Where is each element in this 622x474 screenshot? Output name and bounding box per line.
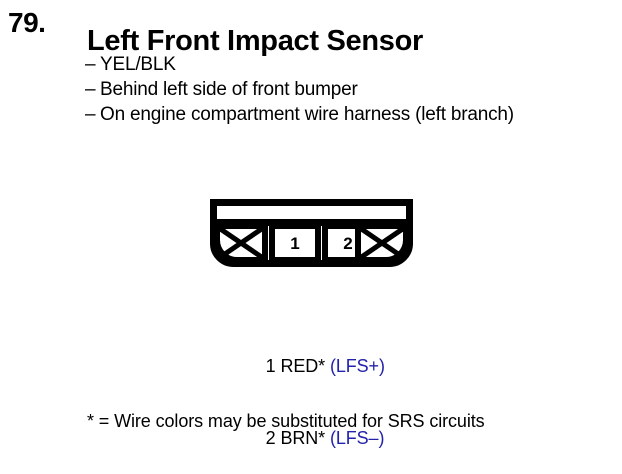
connector-diagram: 1 2	[210, 199, 413, 267]
bullet-dash-icon: –	[85, 52, 100, 77]
bullet-dash-icon: –	[85, 77, 100, 102]
list-item-label: YEL/BLK	[100, 52, 176, 77]
list-item-label: Behind left side of front bumper	[100, 77, 358, 102]
list-item: – On engine compartment wire harness (le…	[85, 102, 622, 127]
list-item: – Behind left side of front bumper	[85, 77, 622, 102]
pin-legend-number: 1	[266, 356, 276, 376]
list-item-label: On engine compartment wire harness (left…	[100, 102, 514, 127]
pin-legend: 1 RED* (LFS+) 2 BRN* (LFS–)	[246, 330, 506, 474]
pin-legend-row: 1 RED* (LFS+)	[246, 330, 506, 402]
bullet-dash-icon: –	[85, 102, 100, 127]
item-number: 79.	[8, 6, 45, 40]
pin-legend-wire-color: RED*	[280, 356, 325, 376]
pin-legend-circuit: (LFS+)	[330, 356, 385, 376]
list-item: – YEL/BLK	[85, 52, 622, 77]
footnote: * = Wire colors may be substituted for S…	[87, 409, 485, 433]
page-header: 79. Left Front Impact Sensor	[0, 4, 622, 44]
connector-pin-1-label: 1	[290, 234, 299, 253]
connector-graphic: 1 2	[210, 199, 413, 267]
detail-list: – YEL/BLK – Behind left side of front bu…	[85, 52, 622, 127]
connector-pin-2-label: 2	[343, 234, 352, 253]
